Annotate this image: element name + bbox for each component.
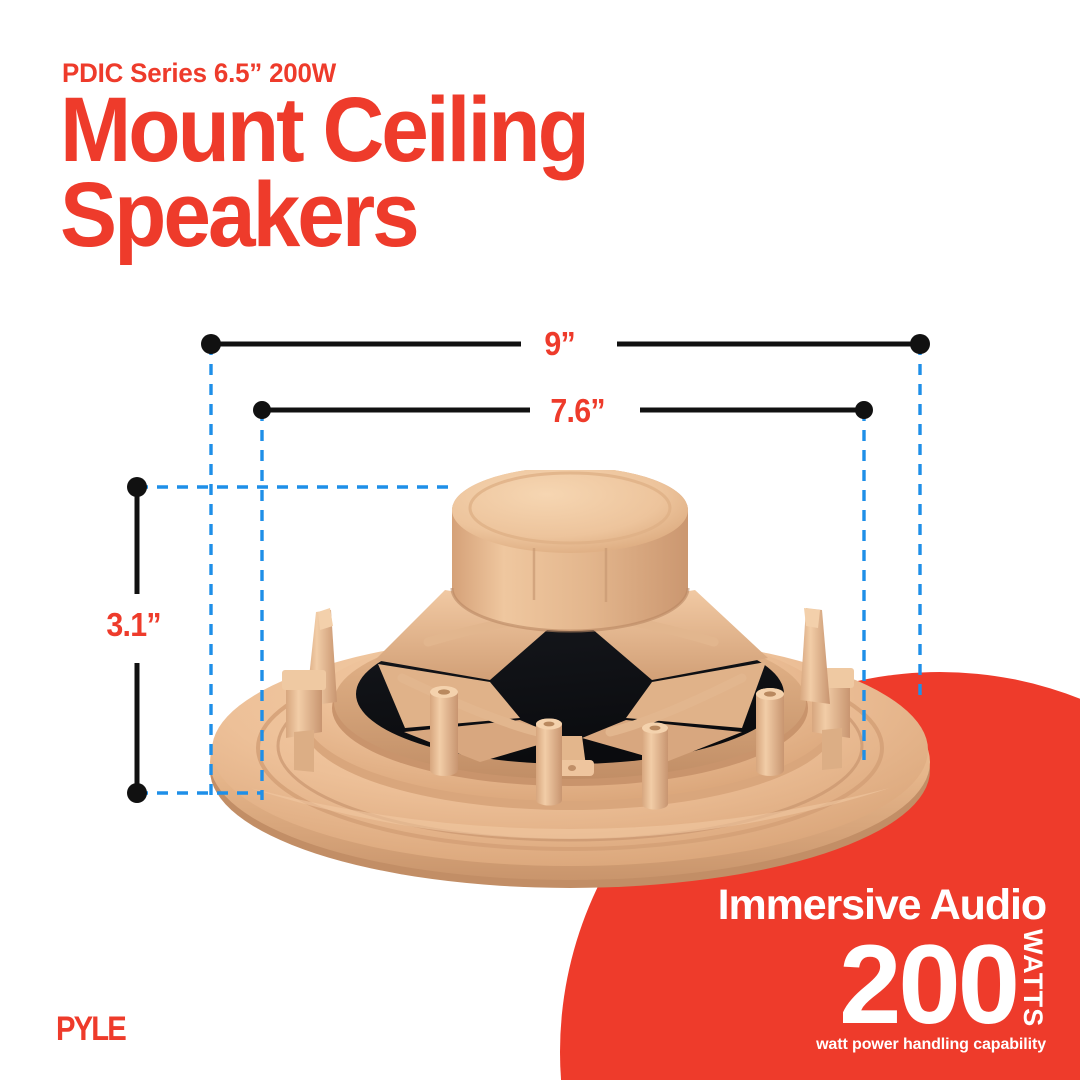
dimension-label-depth: 3.1” [106,606,160,644]
infographic-canvas: PDIC Series 6.5” 200W Mount Ceiling Spea… [0,0,1080,1080]
page-title-line-2: Speakers [60,173,587,258]
page-title: Mount Ceiling Speakers [60,88,587,257]
power-badge: Immersive Audio 200 WATTS watt power han… [718,884,1046,1054]
dim-endpoint-dot [127,477,147,497]
dimension-label-width-outer: 9” [544,325,575,363]
badge-title: Immersive Audio [718,884,1046,927]
badge-wattage-unit: WATTS [1019,929,1046,1031]
dim-endpoint-dot [201,334,221,354]
dim-endpoint-dot [910,334,930,354]
magnet-housing [452,470,688,631]
dim-endpoint-dot [855,401,873,419]
dimension-label-width-cutout: 7.6” [550,392,604,430]
speaker-product-image [190,470,950,900]
dim-endpoint-dot [127,783,147,803]
badge-figure-row: 200 WATTS [718,929,1046,1031]
magnet-top-face [452,470,688,553]
badge-caption: watt power handling capability [718,1036,1046,1054]
badge-wattage-number: 200 [839,939,1017,1031]
pyle-brand-logo: PYLE [56,1010,125,1049]
dim-endpoint-dot [253,401,271,419]
